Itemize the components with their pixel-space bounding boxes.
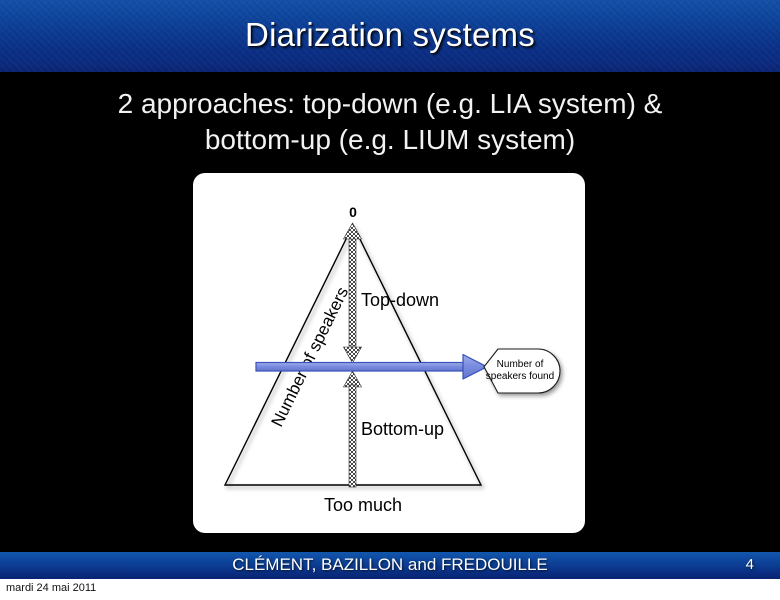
axis-label-number-of-speakers: Number of speakers bbox=[268, 284, 353, 430]
region-label-bottom-up: Bottom-up bbox=[361, 419, 444, 439]
slide-headline: 2 approaches: top-down (e.g. LIA system)… bbox=[40, 86, 740, 158]
base-label-too-much: Too much bbox=[324, 495, 402, 515]
presentation-slide: Diarization systems 2 approaches: top-do… bbox=[0, 0, 780, 600]
callout-line-2: speakers found bbox=[486, 371, 554, 382]
callout-line-1: Number of bbox=[497, 359, 544, 370]
slide-footer-bar: CLÉMENT, BAZILLON and FREDOUILLE 4 bbox=[0, 552, 780, 579]
region-label-top-down: Top-down bbox=[361, 290, 439, 310]
headline-line-1: 2 approaches: top-down (e.g. LIA system)… bbox=[40, 86, 740, 122]
date-strip bbox=[0, 579, 780, 600]
diagram-panel: 0 Number of speakers Top-down Bottom-up bbox=[193, 173, 585, 533]
vertical-double-arrow bbox=[344, 223, 362, 487]
slide-title: Diarization systems bbox=[0, 16, 780, 54]
pyramid-diagram: 0 Number of speakers Top-down Bottom-up bbox=[193, 173, 585, 533]
apex-label: 0 bbox=[349, 204, 357, 220]
slide-page-number: 4 bbox=[746, 556, 754, 573]
footer-authors: CLÉMENT, BAZILLON and FREDOUILLE bbox=[0, 555, 780, 575]
headline-line-2: bottom-up (e.g. LIUM system) bbox=[40, 122, 740, 158]
footer-date: mardi 24 mai 2011 bbox=[6, 582, 96, 594]
slide-title-bar: Diarization systems bbox=[0, 0, 780, 72]
